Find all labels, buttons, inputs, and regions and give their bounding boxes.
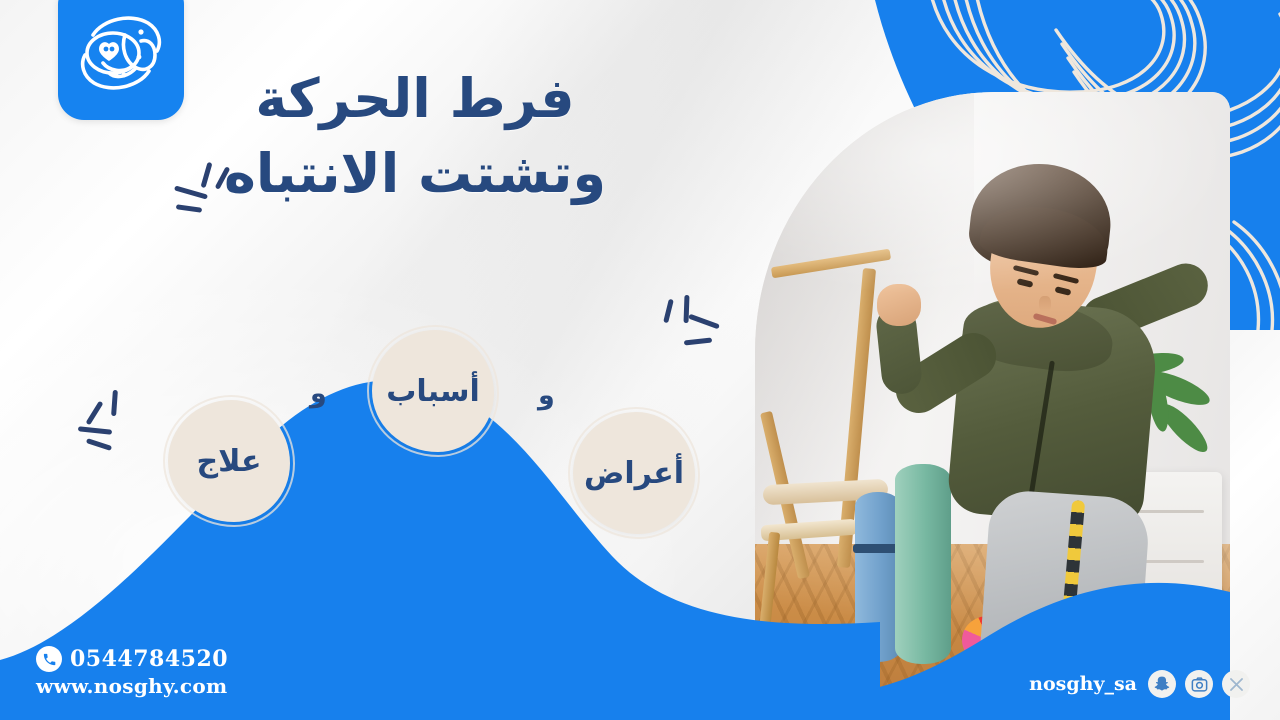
sparkle-burst-icon <box>168 160 232 220</box>
x-twitter-icon[interactable] <box>1222 670 1250 698</box>
social-handle: nosghy_sa <box>1029 673 1137 695</box>
brand-logo[interactable] <box>58 0 184 120</box>
badge-causes[interactable]: أسباب <box>372 330 494 452</box>
page-title: فرط الحركة وتشتت الانتباه <box>200 62 630 211</box>
sparkle-burst-icon <box>650 295 714 355</box>
contact-info: 0544784520 www.nosghy.com <box>36 646 228 698</box>
badge-symptoms-label: أعراض <box>584 456 684 491</box>
social-bar: nosghy_sa <box>1029 670 1250 698</box>
website-url[interactable]: www.nosghy.com <box>36 674 228 698</box>
title-line-1: فرط الحركة <box>200 62 630 137</box>
instagram-icon[interactable] <box>1185 670 1213 698</box>
conjunction-first: و <box>538 380 555 411</box>
badge-treatment-label: علاج <box>197 444 262 479</box>
phone-row[interactable]: 0544784520 <box>36 646 228 672</box>
child-left-fist <box>877 284 921 326</box>
snapchat-icon[interactable] <box>1148 670 1176 698</box>
sparkle-burst-icon <box>76 390 138 452</box>
badge-causes-label: أسباب <box>386 374 479 409</box>
conjunction-second: و <box>310 378 327 409</box>
phone-number: 0544784520 <box>70 646 228 672</box>
child-nose <box>1039 296 1051 312</box>
badge-treatment[interactable]: علاج <box>168 400 290 522</box>
phone-icon <box>36 646 62 672</box>
nosghy-calligraphy-icon <box>69 1 173 105</box>
badge-symptoms[interactable]: أعراض <box>573 412 695 534</box>
title-line-2: وتشتت الانتباه <box>200 137 630 212</box>
poster-canvas: فرط الحركة وتشتت الانتباه أسباب أعراض عل… <box>0 0 1280 720</box>
